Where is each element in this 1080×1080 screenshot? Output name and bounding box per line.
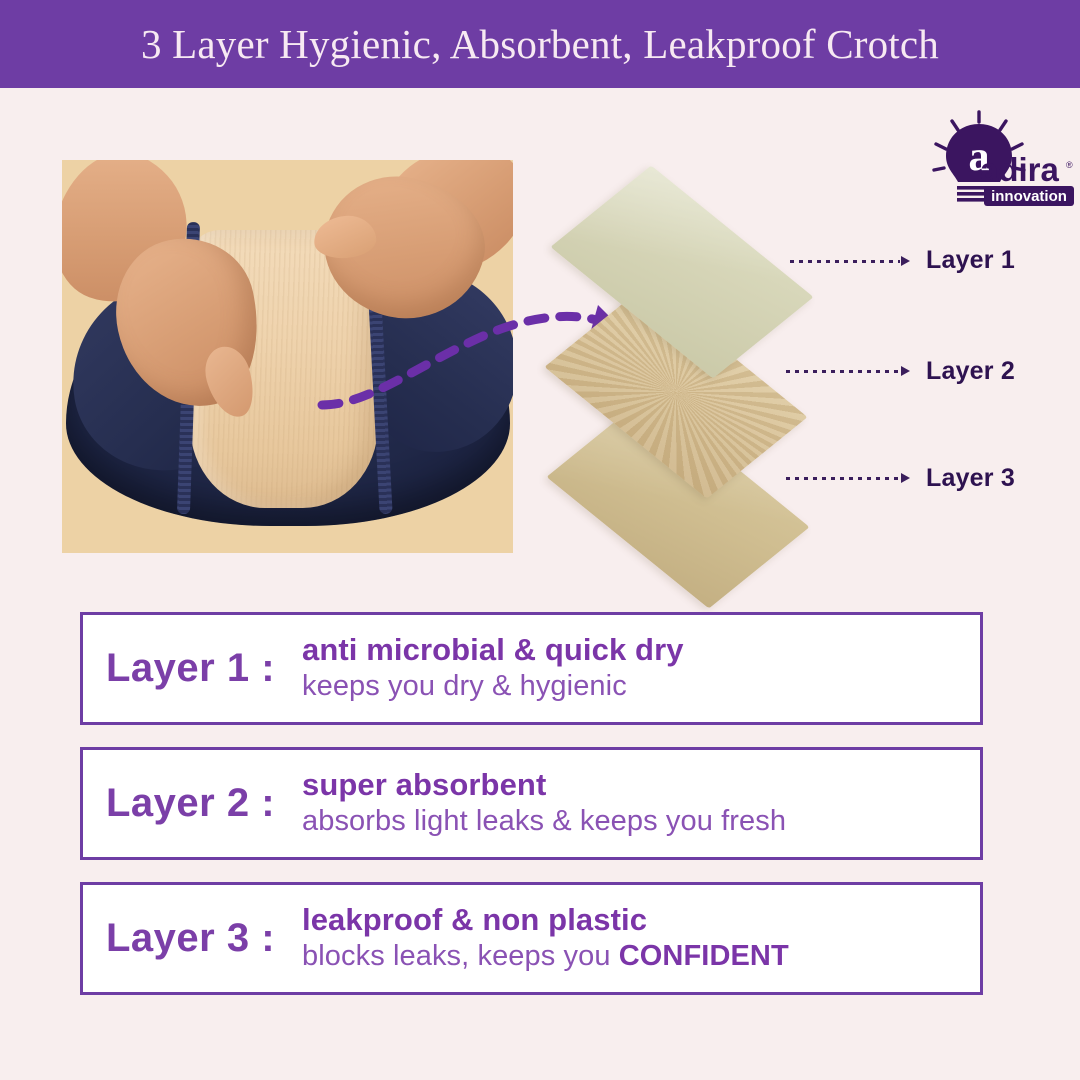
info-box-headline: anti microbial & quick dry — [302, 633, 980, 668]
brand-logo[interactable]: a adira ® innovation — [916, 108, 1076, 212]
info-box-text: leakproof & non plastic blocks leaks, ke… — [298, 903, 980, 973]
info-box-subtitle: blocks leaks, keeps you CONFIDENT — [302, 940, 980, 974]
info-box-text: anti microbial & quick dry keeps you dry… — [298, 633, 980, 703]
info-box-subtitle-text: keeps you dry & hygienic — [302, 670, 627, 702]
header-banner: 3 Layer Hygienic, Absorbent, Leakproof C… — [0, 0, 1080, 88]
callout-label-layer-2: Layer 2 — [926, 357, 1015, 386]
brand-tagline: innovation — [991, 188, 1067, 205]
page-title: 3 Layer Hygienic, Absorbent, Leakproof C… — [141, 20, 939, 68]
info-box-subtitle: keeps you dry & hygienic — [302, 670, 980, 704]
arrowhead-icon — [901, 473, 910, 483]
callout-label-layer-1: Layer 1 — [926, 246, 1015, 275]
callout-label-layer-3: Layer 3 — [926, 464, 1015, 493]
leader-line-layer-1 — [790, 255, 910, 267]
product-photo — [62, 160, 513, 553]
info-box-headline: leakproof & non plastic — [302, 903, 980, 938]
info-box-layer-2: Layer 2 : super absorbent absorbs light … — [80, 747, 983, 860]
info-box-layer-label: Layer 2 : — [83, 781, 298, 826]
info-box-text: super absorbent absorbs light leaks & ke… — [298, 768, 980, 838]
info-box-layer-3: Layer 3 : leakproof & non plastic blocks… — [80, 882, 983, 995]
dotted-line — [790, 260, 900, 263]
info-box-headline: super absorbent — [302, 768, 980, 803]
info-box-subtitle-text: blocks leaks, keeps you — [302, 940, 619, 972]
info-box-subtitle-text: absorbs light leaks & keeps you fresh — [302, 805, 786, 837]
info-box-subtitle: absorbs light leaks & keeps you fresh — [302, 805, 980, 839]
dotted-line — [786, 370, 900, 373]
leader-line-layer-2 — [786, 365, 910, 377]
info-box-layer-label: Layer 3 : — [83, 916, 298, 961]
info-box-subtitle-emphasis: CONFIDENT — [619, 940, 789, 972]
arrowhead-icon — [901, 256, 910, 266]
leader-line-layer-3 — [786, 472, 910, 484]
brand-trademark: ® — [1066, 160, 1073, 170]
info-box-layer-label: Layer 1 : — [83, 646, 298, 691]
arrowhead-icon — [901, 366, 910, 376]
brand-name: adira — [980, 151, 1060, 188]
fabric-layer-stack — [566, 176, 816, 536]
dotted-line — [786, 477, 900, 480]
info-box-layer-1: Layer 1 : anti microbial & quick dry kee… — [80, 612, 983, 725]
